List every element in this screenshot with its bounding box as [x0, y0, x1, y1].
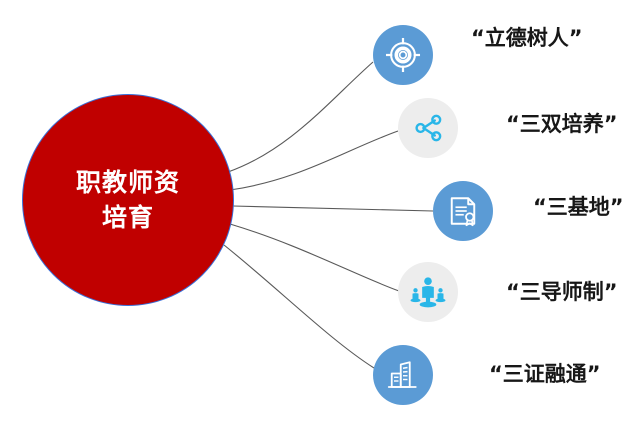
node-three-certificates[interactable]	[373, 345, 433, 405]
connector-line	[233, 206, 433, 211]
certificate-document-icon	[445, 193, 481, 229]
connector-line	[228, 62, 373, 172]
mentor-people-icon	[408, 272, 448, 312]
connector-line	[230, 131, 398, 190]
label-three-bases: “三基地”	[533, 191, 624, 221]
label-three-certificates: “三证融通”	[489, 358, 601, 388]
share-nodes-icon	[410, 110, 446, 146]
connector-line	[224, 245, 374, 368]
mind-map-diagram: 职教师资 培育 “立德树人”	[0, 0, 640, 426]
central-node[interactable]: 职教师资 培育	[22, 94, 234, 306]
label-three-mentors: “三导师制”	[506, 276, 618, 306]
connector-line	[230, 224, 399, 291]
node-three-bases[interactable]	[433, 181, 493, 241]
node-three-mentors[interactable]	[398, 262, 458, 322]
target-icon	[384, 36, 422, 74]
label-dual-training: “三双培养”	[506, 108, 618, 138]
central-node-title-line-1: 职教师资	[76, 165, 180, 201]
node-ethics[interactable]	[373, 25, 433, 85]
central-node-title-line-2: 培育	[102, 200, 154, 236]
label-ethics: “立德树人”	[471, 22, 583, 52]
node-dual-training[interactable]	[398, 98, 458, 158]
buildings-icon	[385, 357, 421, 393]
